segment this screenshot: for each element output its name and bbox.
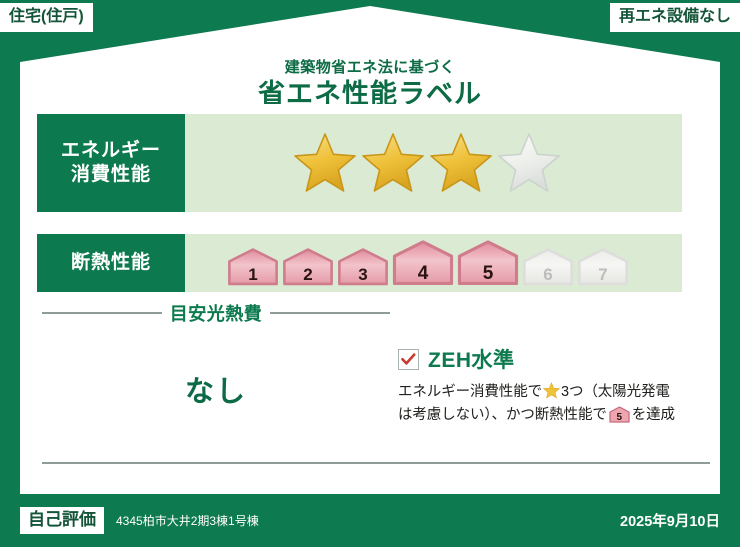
star-filled-icon	[429, 131, 493, 195]
zeh-desc-part2: は考慮しない）、かつ断熱性能で	[398, 407, 607, 423]
zeh-title: ZEH水準	[428, 344, 515, 374]
star-rating	[293, 131, 561, 195]
inline-house-icon: 5	[609, 406, 630, 423]
utility-cost-block: 目安光熱費 なし	[42, 300, 390, 494]
house-level-1: 1	[227, 248, 279, 286]
star-filled-icon	[361, 131, 425, 195]
evaluation-type-badge: 自己評価	[20, 507, 104, 535]
star-empty-icon	[497, 131, 561, 195]
house-level-7: 7	[577, 248, 629, 286]
badge-building-type: 住宅(住戸)	[0, 3, 93, 32]
energy-label-line1: エネルギー	[61, 139, 161, 163]
insulation-performance-row: 断熱性能 1234567	[37, 234, 682, 292]
header-subtitle: 建築物省エネ法に基づく	[285, 60, 456, 77]
inline-star-icon	[543, 382, 560, 399]
energy-performance-label: エネルギー 消費性能	[37, 114, 185, 212]
zeh-desc-starcount: 3つ（太陽光発電	[561, 384, 670, 400]
issue-date: 2025年9月10日	[620, 510, 720, 531]
insulation-label-text: 断熱性能	[71, 251, 151, 275]
energy-performance-label: 建築物省エネ法に基づく 省エネ性能ラベル 住宅(住戸) 再エネ設備なし エネルギ…	[0, 0, 740, 547]
energy-label-line2: 消費性能	[71, 163, 151, 187]
house-level-2: 2	[282, 248, 334, 286]
zeh-block: ZEH水準 エネルギー消費性能で3つ（太陽光発電は考慮しない）、かつ断熱性能で5…	[398, 344, 706, 428]
zeh-desc-part3: を達成	[632, 407, 675, 423]
house-level-3: 3	[337, 248, 389, 286]
label-footer: 自己評価 4345柏市大井2期3棟1号棟 2025年9月10日	[0, 494, 740, 547]
house-level-number: 4	[392, 264, 454, 283]
house-level-number: 6	[522, 266, 574, 283]
house-level-6: 6	[522, 248, 574, 286]
zeh-desc-part1: エネルギー消費性能で	[398, 384, 542, 400]
insulation-performance-label: 断熱性能	[37, 234, 185, 292]
label-card: エネルギー 消費性能 断熱性能 1234567 目安光熱費	[20, 104, 720, 494]
house-level-number: 7	[577, 266, 629, 283]
energy-performance-value	[185, 114, 682, 212]
badge-renewable-energy: 再エネ設備なし	[610, 3, 740, 32]
zeh-header: ZEH水準	[398, 344, 706, 374]
house-level-scale: 1234567	[227, 240, 629, 286]
house-level-5: 5	[457, 240, 519, 286]
lower-section: 目安光熱費 なし ZEH水準 エネルギー消費性能で3つ（太陽光発電は考慮しない）…	[20, 300, 720, 494]
insulation-performance-value: 1234567	[185, 234, 682, 292]
utility-cost-header: 目安光熱費	[42, 300, 390, 326]
house-level-4: 4	[392, 240, 454, 286]
zeh-checkbox[interactable]	[398, 349, 419, 370]
rule-right	[270, 312, 390, 314]
zeh-description: エネルギー消費性能で3つ（太陽光発電は考慮しない）、かつ断熱性能で5を達成	[398, 381, 706, 428]
check-icon	[401, 353, 416, 366]
utility-cost-value: なし	[42, 368, 390, 410]
energy-performance-row: エネルギー 消費性能	[37, 114, 682, 212]
house-level-number: 3	[337, 266, 389, 283]
utility-cost-bottom-rule	[42, 462, 710, 464]
house-level-number: 1	[227, 266, 279, 283]
star-filled-icon	[293, 131, 357, 195]
utility-cost-title: 目安光熱費	[170, 300, 263, 326]
property-address: 4345柏市大井2期3棟1号棟	[116, 512, 259, 529]
inline-house-number: 5	[609, 413, 630, 423]
house-level-number: 5	[457, 264, 519, 283]
rule-left	[42, 312, 162, 314]
house-level-number: 2	[282, 266, 334, 283]
